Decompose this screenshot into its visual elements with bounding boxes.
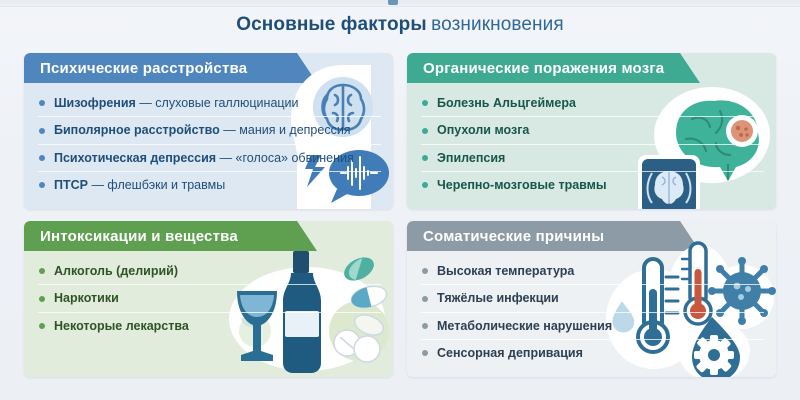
item-lead: Опухоли мозга [437,123,529,137]
list-item: Тяжёлые инфекции [421,284,764,311]
item-lead: Биполярное расстройство [54,123,220,137]
item-list-organic-brain-lesions: Болезнь Альцгеймера Опухоли мозга Эпилеп… [421,90,764,199]
item-lead: Болезнь Альцгеймера [437,96,576,110]
item-lead: Некоторые лекарства [54,319,189,333]
bullet-dot [39,100,45,106]
item-lead: Высокая температура [437,264,574,278]
item-lead: Метаболические нарушения [437,319,612,333]
item-lead: Сенсорная депривация [437,346,583,360]
card-intoxication-substances: Интоксикации и вещества [24,221,393,377]
item-lead: ПТСР [54,178,88,192]
card-mental-disorders: Психические расстройства [24,53,393,209]
card-header-mental-disorders: Психические расстройства [24,53,297,83]
card-somatic-causes: Соматические причины [407,221,776,377]
item-tail: — флешбэки и травмы [88,178,225,192]
list-item: Психотическая депрессия — «голоса» обвин… [38,144,381,171]
page-title-strong: Основные факторы [236,14,426,35]
list-item: Сенсорная депривация [421,339,764,366]
bullet-dot [422,155,428,161]
bullet-dot [39,268,45,274]
card-body-organic-brain-lesions: Болезнь Альцгеймера Опухоли мозга Эпилеп… [407,83,776,209]
bullet-dot [39,182,45,188]
page-title-light: возникновения [431,14,564,35]
item-lead: Тяжёлые инфекции [437,291,559,305]
page-title: Основные факторы возникновения [0,14,800,36]
bullet-dot [422,182,428,188]
bullet-dot [39,296,45,302]
card-body-intoxication-substances: Алкоголь (делирий) Наркотики Некоторые л… [24,251,393,377]
item-lead: Психотическая депрессия [54,151,216,165]
card-header-organic-brain-lesions: Органические поражения мозга [407,53,680,83]
item-list-intoxication-substances: Алкоголь (делирий) Наркотики Некоторые л… [38,258,381,339]
list-item: ПТСР — флешбэки и травмы [38,171,381,198]
bullet-dot [422,100,428,106]
card-body-mental-disorders: Шизофрения — слуховые галлюцинации Бипол… [24,83,393,209]
list-item: Опухоли мозга [421,116,764,143]
bullet-dot [39,155,45,161]
item-lead: Эпилепсия [437,151,505,165]
list-item: Биполярное расстройство — мания и депрес… [38,116,381,143]
bullet-dot [422,350,428,356]
item-lead: Черепно-мозговые травмы [437,178,607,192]
list-item: Шизофрения — слуховые галлюцинации [38,90,381,116]
list-item: Некоторые лекарства [38,312,381,339]
top-edge-sliver [0,0,800,7]
item-list-mental-disorders: Шизофрения — слуховые галлюцинации Бипол… [38,90,381,199]
cut-off-element [388,0,398,5]
item-list-somatic-causes: Высокая температура Тяжёлые инфекции Мет… [421,258,764,367]
bullet-dot [422,296,428,302]
factor-card-grid: Психические расстройства [24,53,776,393]
list-item: Наркотики [38,284,381,311]
card-body-somatic-causes: Высокая температура Тяжёлые инфекции Мет… [407,251,776,377]
item-lead: Наркотики [54,291,119,305]
list-item: Эпилепсия [421,144,764,171]
list-item: Черепно-мозговые травмы [421,171,764,198]
bullet-dot [422,128,428,134]
card-header-intoxication-substances: Интоксикации и вещества [24,221,297,251]
item-tail: — мания и депрессия [220,123,351,137]
item-lead: Алкоголь (делирий) [54,264,178,278]
list-item: Метаболические нарушения [421,312,764,339]
bullet-dot [39,128,45,134]
list-item: Болезнь Альцгеймера [421,90,764,116]
infographic-page: Основные факторы возникновения Психическ… [0,0,800,400]
bullet-dot [422,323,428,329]
card-organic-brain-lesions: Органические поражения мозга [407,53,776,209]
list-item: Высокая температура [421,258,764,284]
item-tail: — слуховые галлюцинации [136,96,299,110]
bullet-dot [39,323,45,329]
card-header-somatic-causes: Соматические причины [407,221,680,251]
item-tail: — «голоса» обвинения [216,151,354,165]
list-item: Алкоголь (делирий) [38,258,381,284]
item-lead: Шизофрения [54,96,136,110]
bullet-dot [422,268,428,274]
